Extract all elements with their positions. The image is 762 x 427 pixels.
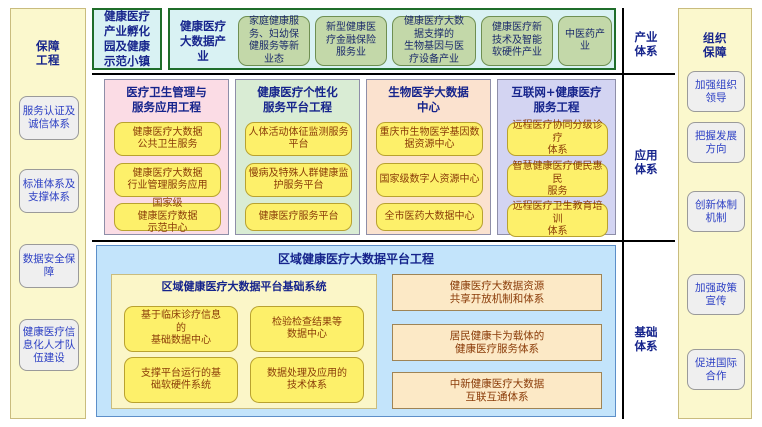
architecture-diagram: 保障 工程 服务认证及 诚信体系 标准体系及 支撑体系 数据安全保 障 健康医疗… (0, 0, 762, 427)
base-subsystem-item[interactable]: 数据处理及应用的 技术体系 (250, 357, 364, 403)
right-column-item[interactable]: 加强组织 领导 (687, 71, 745, 112)
base-mechanism-item[interactable]: 健康医疗大数据资源 共享开放机制和体系 (392, 274, 602, 311)
application-card-item[interactable]: 国家级 健康医疗数据 示范中心 (114, 203, 221, 231)
base-subsystem-item[interactable]: 检验检查结果等 数据中心 (250, 306, 364, 352)
left-column-guarantee-projects: 保障 工程 服务认证及 诚信体系 标准体系及 支撑体系 数据安全保 障 健康医疗… (10, 8, 86, 419)
base-subsystem-item[interactable]: 支撑平台运行的基 础软硬件系统 (124, 357, 238, 403)
right-column-item[interactable]: 加强政策 宣传 (687, 274, 745, 315)
left-column-item[interactable]: 标准体系及 支撑体系 (19, 169, 79, 213)
industry-chip[interactable]: 家庭健康服 务、妇幼保 健服务等新 业态 (238, 16, 310, 66)
right-column-item[interactable]: 促进国际 合作 (687, 349, 745, 390)
application-card-title: 互联网+健康医疗 服务工程 (500, 85, 613, 115)
application-card-item[interactable]: 国家级数字人资源中心 (376, 163, 483, 197)
right-column-item[interactable]: 创新体制 机制 (687, 191, 745, 232)
application-card-title: 健康医疗个性化 服务平台工程 (238, 85, 357, 115)
base-subsystem-group: 区域健康医疗大数据平台基础系统 基于临床诊疗信息 的 基础数据中心 检验检查结果… (111, 274, 377, 409)
industry-bigdata-group: 健康医疗 大数据产 业 家庭健康服 务、妇幼保 健服务等新 业态 新型健康医 疗… (168, 8, 616, 70)
industry-chip[interactable]: 中医药产业 (558, 16, 612, 66)
industry-chip[interactable]: 健康医疗大数 据支撑的 生物基因与医 疗设备产业 (392, 16, 476, 66)
base-subsystem-title: 区域健康医疗大数据平台基础系统 (114, 280, 374, 294)
industry-chip[interactable]: 健康医疗新 技术及智能 软硬件产业 (481, 16, 553, 66)
industry-group-title: 健康医疗 大数据产 业 (172, 17, 234, 65)
left-column-item[interactable]: 健康医疗信 息化人才队 伍建设 (19, 319, 79, 371)
application-card-item[interactable]: 远程医疗协同分级诊疗 体系 (507, 122, 608, 156)
application-card-item[interactable]: 健康医疗服务平台 (245, 203, 352, 231)
industry-incubation-park-box[interactable]: 健康医疗 产业孵化 园及健康 示范小镇 (92, 8, 162, 70)
application-card-title: 医疗卫生管理与 服务应用工程 (107, 85, 226, 115)
application-card-health-management: 医疗卫生管理与 服务应用工程 健康医疗大数据 公共卫生服务 健康医疗大数据 行业… (104, 79, 229, 235)
base-regional-bigdata-platform: 区域健康医疗大数据平台工程 区域健康医疗大数据平台基础系统 基于临床诊疗信息 的… (96, 245, 616, 417)
right-column-item[interactable]: 把握发展 方向 (687, 122, 745, 163)
application-card-biomedical-bigdata-center: 生物医学大数据 中心 重庆市生物医学基因数 据资源中心 国家级数字人资源中心 全… (366, 79, 491, 235)
right-column-title: 组织 保障 (679, 31, 751, 59)
application-card-item[interactable]: 慢病及特殊人群健康监 护服务平台 (245, 163, 352, 197)
application-card-item[interactable]: 智慧健康医疗便民惠民 服务 (507, 163, 608, 197)
axis-label-industry: 产业 体系 (626, 30, 666, 58)
application-card-item[interactable]: 重庆市生物医学基因数 据资源中心 (376, 122, 483, 156)
right-column-organizational-guarantee: 组织 保障 加强组织 领导 把握发展 方向 创新体制 机制 加强政策 宣传 促进… (678, 8, 752, 419)
left-column-item[interactable]: 服务认证及 诚信体系 (19, 96, 79, 140)
axis-label-application: 应用 体系 (626, 148, 666, 176)
divider-industry-application (92, 73, 675, 75)
industry-chip[interactable]: 新型健康医 疗金融保险 服务业 (315, 16, 387, 66)
application-card-item[interactable]: 人体活动体征监测服务 平台 (245, 122, 352, 156)
application-card-item[interactable]: 健康医疗大数据 公共卫生服务 (114, 122, 221, 156)
base-mechanism-item[interactable]: 中新健康医疗大数据 互联互通体系 (392, 372, 602, 409)
application-card-item[interactable]: 全市医药大数据中心 (376, 203, 483, 231)
application-card-item[interactable]: 健康医疗大数据 行业管理服务应用 (114, 163, 221, 197)
application-card-item[interactable]: 远程医疗卫生教育培训 体系 (507, 203, 608, 237)
base-band-title: 区域健康医疗大数据平台工程 (97, 252, 615, 267)
application-card-personalized-platform: 健康医疗个性化 服务平台工程 人体活动体征监测服务 平台 慢病及特殊人群健康监 … (235, 79, 360, 235)
axis-label-base: 基础 体系 (626, 325, 666, 353)
left-column-title: 保障 工程 (11, 39, 85, 67)
application-card-title: 生物医学大数据 中心 (369, 85, 488, 115)
divider-application-base (92, 240, 675, 242)
base-subsystem-item[interactable]: 基于临床诊疗信息 的 基础数据中心 (124, 306, 238, 352)
divider-right-axis (622, 8, 624, 419)
application-card-internet-plus-service: 互联网+健康医疗 服务工程 远程医疗协同分级诊疗 体系 智慧健康医疗便民惠民 服… (497, 79, 616, 235)
base-mechanism-item[interactable]: 居民健康卡为载体的 健康医疗服务体系 (392, 324, 602, 361)
left-column-item[interactable]: 数据安全保 障 (19, 244, 79, 288)
